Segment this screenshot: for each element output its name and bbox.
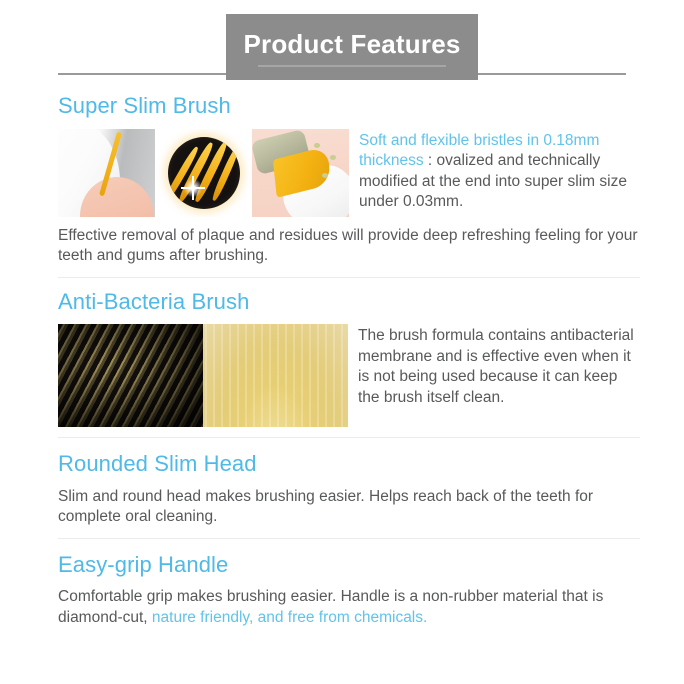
feature-section-anti-bacteria-brush: Anti-Bacteria Brush The brush formula co…	[0, 288, 684, 428]
super-slim-brush-media-row: Soft and flexible bristles in 0.18mm thi…	[58, 129, 640, 217]
section-divider	[58, 277, 640, 278]
bristle-fibers-dark-image	[58, 324, 203, 427]
vignette-overlay	[58, 324, 203, 427]
anti-bacteria-brush-media-row: The brush formula contains antibacterial…	[58, 324, 640, 427]
section-title-rounded-slim-head: Rounded Slim Head	[58, 450, 640, 478]
debris-fleck	[322, 173, 328, 178]
section-title-super-slim-brush: Super Slim Brush	[58, 92, 640, 120]
bristle-fibers-yellow-image	[203, 324, 348, 427]
section-divider	[58, 538, 640, 539]
feature-section-easy-grip-handle: Easy-grip Handle Comfortable grip makes …	[0, 549, 684, 629]
anti-bacteria-brush-side-text: The brush formula contains antibacterial…	[358, 324, 640, 408]
glow-overlay	[203, 324, 348, 427]
debris-fleck	[330, 155, 336, 160]
description-highlight: nature friendly, and free from chemicals…	[152, 609, 427, 626]
debris-fleck	[314, 143, 320, 148]
tooth-with-slim-bristle-image	[58, 129, 155, 217]
easy-grip-handle-description: Comfortable grip makes brushing easier. …	[58, 587, 640, 628]
features-content: Super Slim Brush	[0, 92, 684, 629]
super-slim-brush-description: Soft and flexible bristles in 0.18mm thi…	[359, 131, 640, 213]
page-title: Product Features	[243, 31, 460, 63]
rounded-slim-head-description: Slim and round head makes brushing easie…	[58, 487, 640, 528]
anti-bacteria-brush-description: The brush formula contains antibacterial…	[358, 326, 640, 408]
header-banner: Product Features	[226, 14, 478, 80]
page-header: Product Features	[0, 0, 684, 92]
feature-section-super-slim-brush: Super Slim Brush	[0, 92, 684, 267]
section-title-easy-grip-handle: Easy-grip Handle	[58, 551, 640, 579]
magnified-circle	[168, 137, 240, 209]
super-slim-brush-side-text: Soft and flexible bristles in 0.18mm thi…	[359, 129, 640, 213]
feature-section-rounded-slim-head: Rounded Slim Head Slim and round head ma…	[0, 448, 684, 528]
sparkle-icon	[182, 177, 204, 199]
bristle-closeup-sparkle-image	[155, 129, 252, 217]
section-divider	[58, 437, 640, 438]
header-banner-underline	[258, 65, 446, 67]
anti-bacteria-brush-thumbnails	[58, 324, 348, 427]
super-slim-brush-thumbnails	[58, 129, 349, 217]
brush-head-cleaning-teeth-image	[252, 129, 349, 217]
super-slim-brush-summary: Effective removal of plaque and residues…	[58, 226, 640, 267]
section-title-anti-bacteria-brush: Anti-Bacteria Brush	[58, 288, 640, 316]
